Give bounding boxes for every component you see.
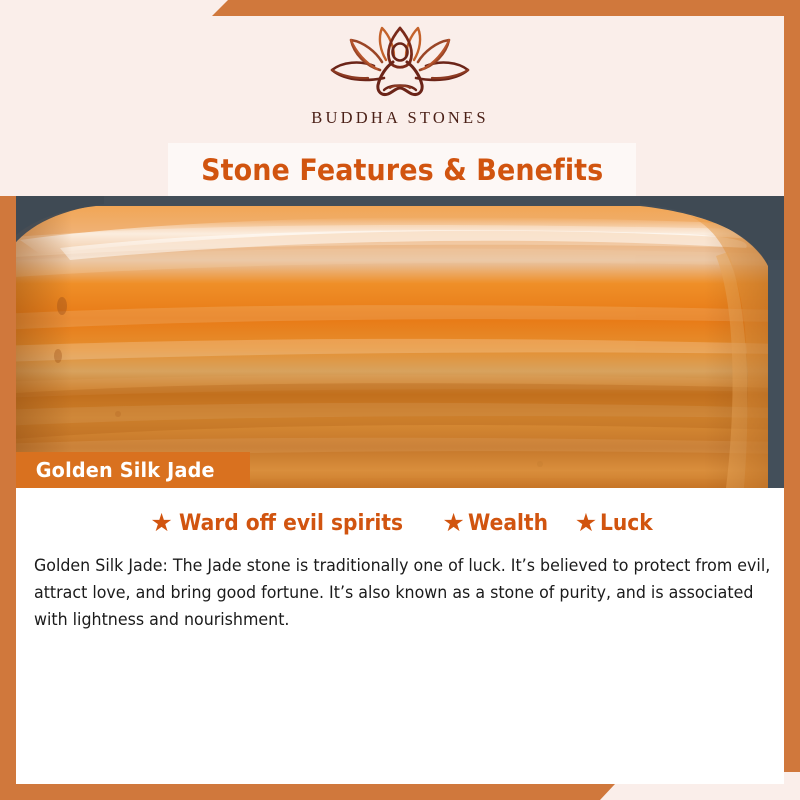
page-title: Stone Features & Benefits <box>201 153 603 187</box>
star-icon: ★ <box>442 511 464 536</box>
benefit-item: ★ Ward off evil spirits <box>150 511 422 536</box>
product-description: Golden Silk Jade: The Jade stone is trad… <box>34 552 783 633</box>
benefit-item: ★ Wealth <box>442 511 554 536</box>
star-icon: ★ <box>150 511 172 536</box>
golden-silk-jade-image <box>0 196 800 488</box>
product-badge: Golden Silk Jade <box>0 452 250 488</box>
frame-bottom-border <box>0 784 800 800</box>
frame-left-border <box>0 196 16 784</box>
frame-right-border <box>784 0 800 772</box>
content-panel: ★ Ward off evil spirits ★ Wealth ★ Luck … <box>16 488 784 784</box>
lotus-meditation-figure-icon <box>324 22 476 104</box>
product-badge-label: Golden Silk Jade <box>36 458 215 482</box>
benefit-label: Ward off evil spirits <box>179 511 403 536</box>
benefit-label: Wealth <box>468 511 548 536</box>
title-banner: Stone Features & Benefits <box>168 143 636 196</box>
stone-features-card: BUDDHA STONES Stone Features & Benefits <box>0 0 800 800</box>
brand-logo: BUDDHA STONES <box>0 22 800 128</box>
benefit-label: Luck <box>600 511 653 536</box>
brand-name: BUDDHA STONES <box>311 108 488 128</box>
benefits-list: ★ Ward off evil spirits ★ Wealth ★ Luck <box>16 511 784 536</box>
benefit-item: ★ Luck <box>575 511 658 536</box>
star-icon: ★ <box>575 511 597 536</box>
product-photo <box>0 196 800 488</box>
